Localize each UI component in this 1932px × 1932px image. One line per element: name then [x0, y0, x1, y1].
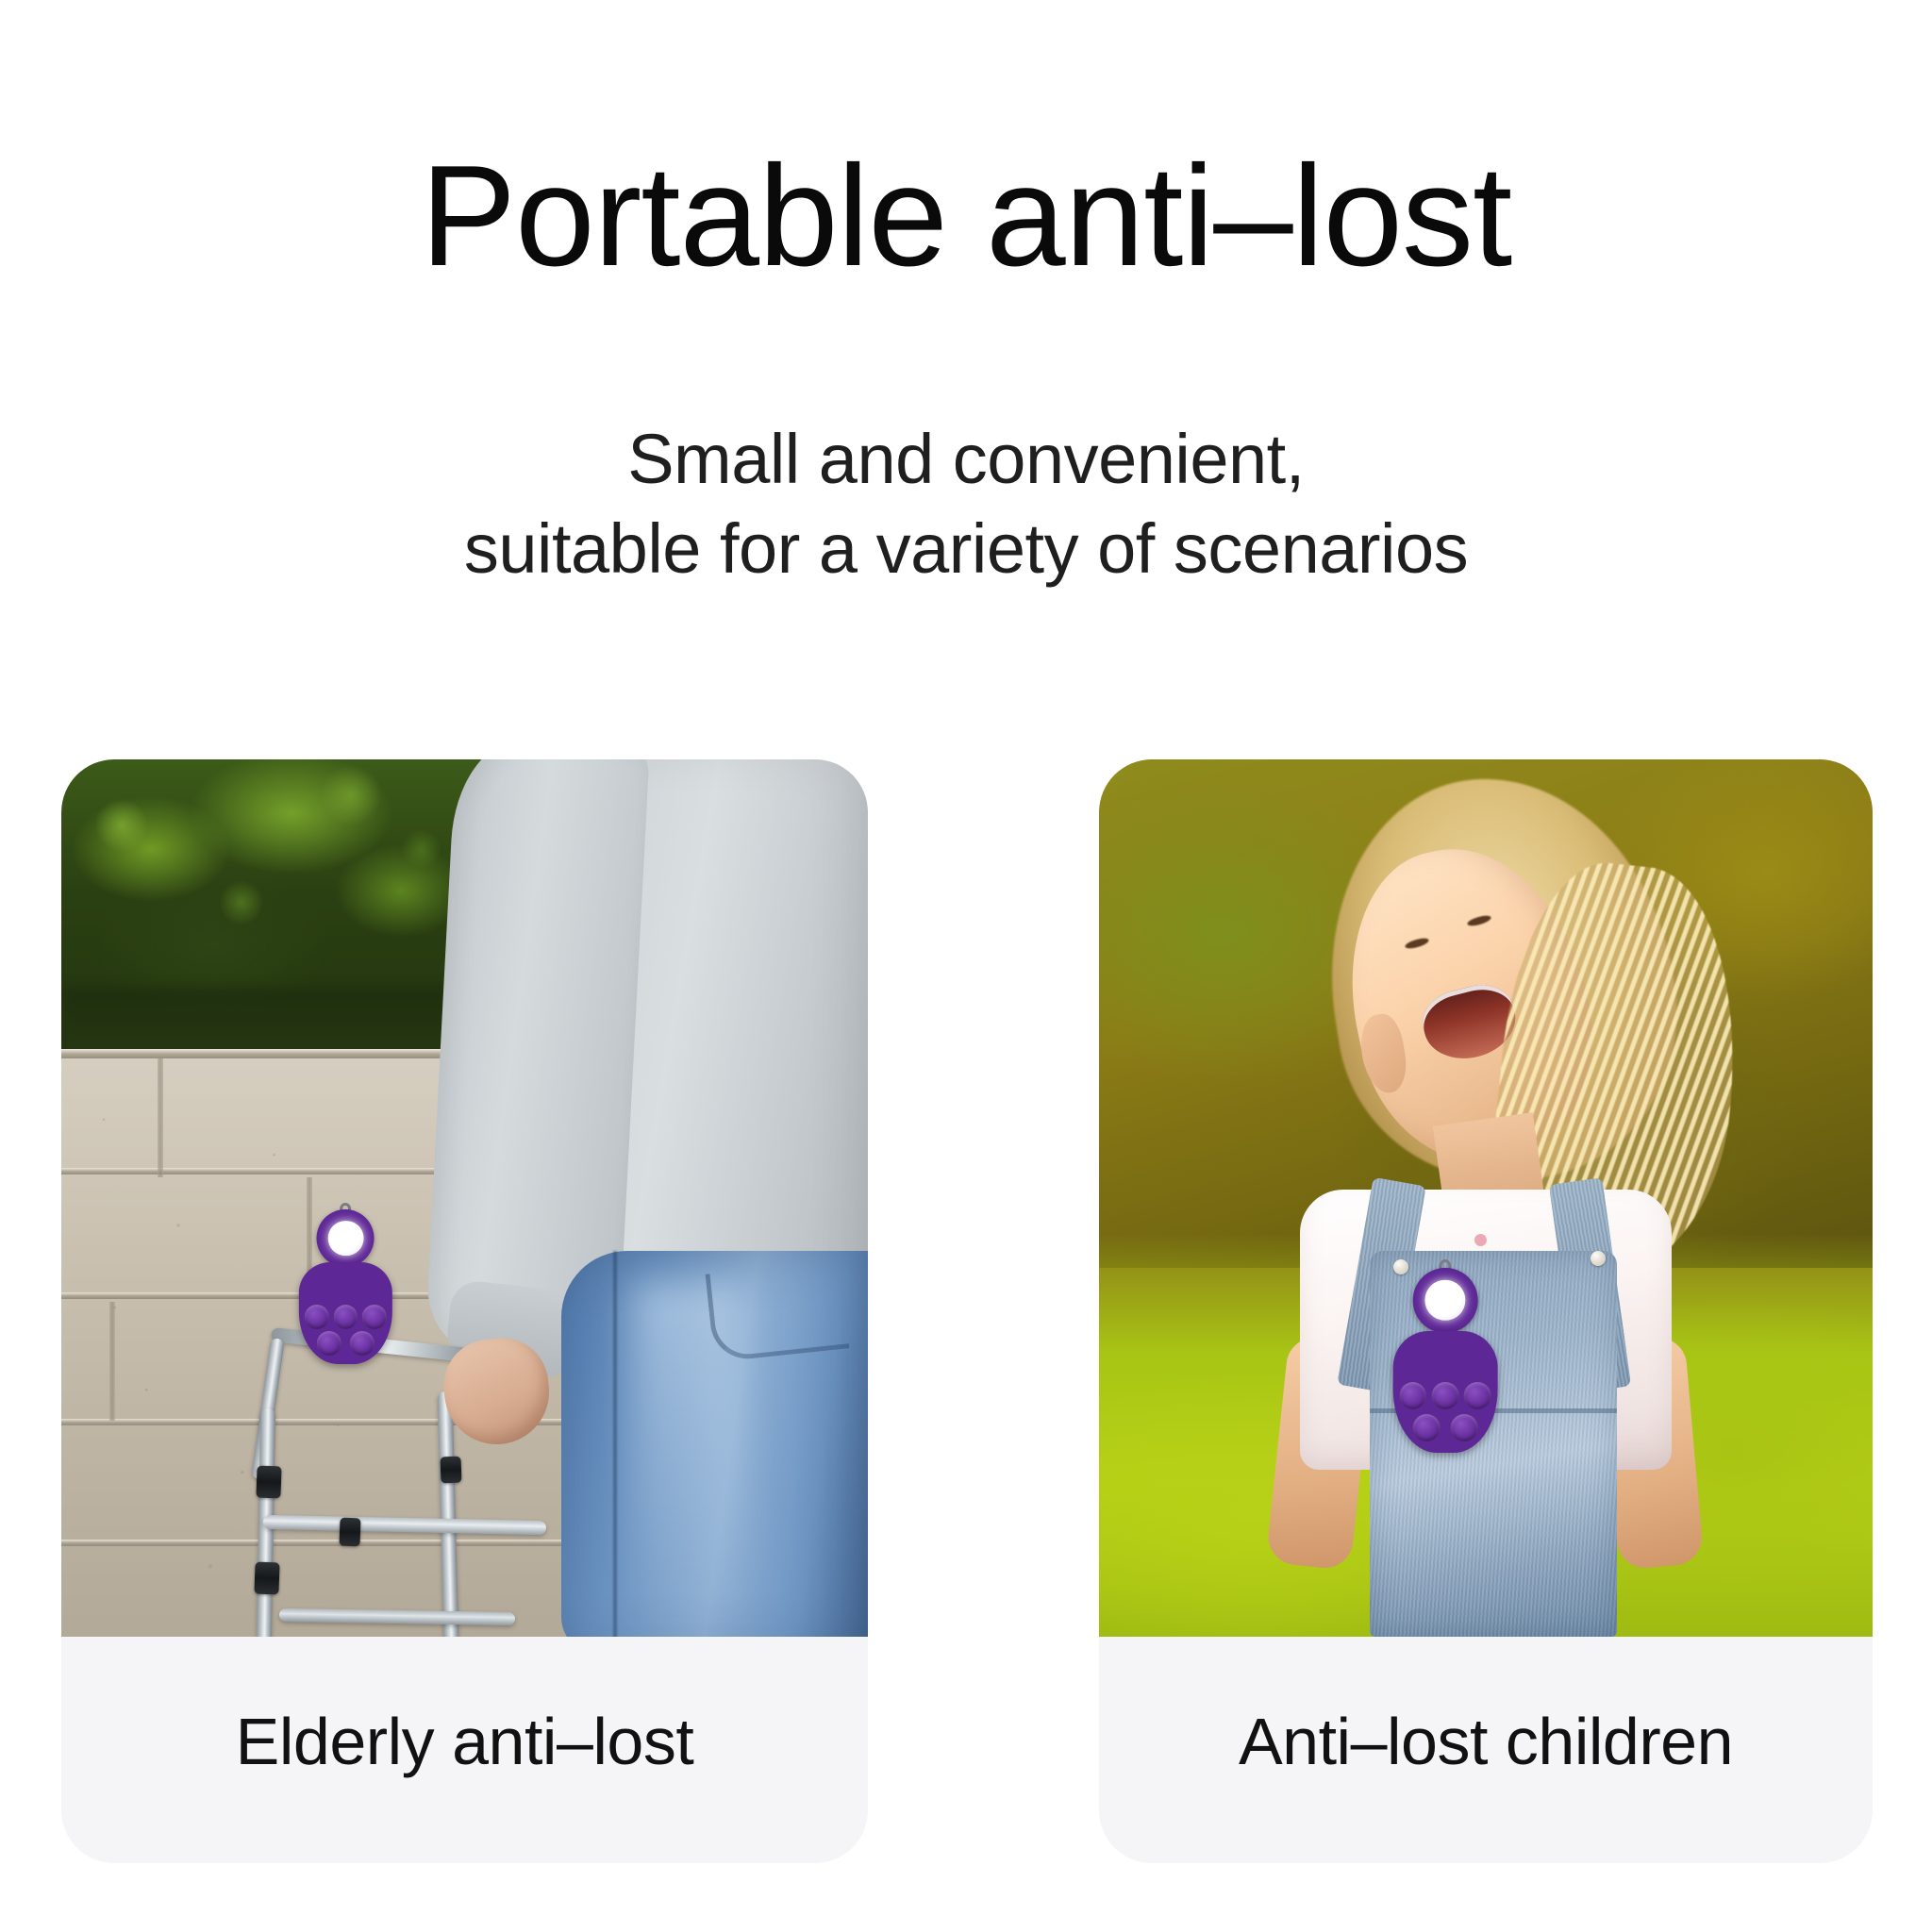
scene-elderly	[61, 759, 868, 1637]
subtitle-line-1: Small and convenient,	[0, 415, 1932, 505]
walker-clamp	[339, 1518, 360, 1547]
scenario-card-grid: Elderly anti–lost	[0, 759, 1932, 1891]
denim-pocket	[706, 1260, 850, 1363]
popit-keychain-icon	[1393, 1259, 1498, 1470]
scenario-card-elderly[interactable]: Elderly anti–lost	[61, 759, 868, 1863]
caption-label-children: Anti–lost children	[1239, 1704, 1733, 1779]
scenario-card-children[interactable]: Anti–lost children	[1099, 759, 1873, 1863]
keychain-head-light	[327, 1221, 363, 1257]
keychain-head-light	[1425, 1280, 1466, 1321]
scene-child	[1099, 759, 1873, 1637]
keychain-body	[1393, 1331, 1498, 1453]
popit-bubble	[1464, 1382, 1491, 1409]
popit-bubble	[1399, 1382, 1426, 1409]
photo-elderly-anti-lost	[61, 759, 868, 1637]
walker-clamp	[255, 1561, 280, 1594]
popit-bubble	[305, 1305, 329, 1329]
caption-bar-elderly: Elderly anti–lost	[61, 1637, 868, 1863]
keychain-head	[1413, 1268, 1478, 1333]
header-section: Portable anti–lost Small and convenient,…	[0, 0, 1932, 660]
blue-jeans	[561, 1251, 868, 1637]
page-subtitle: Small and convenient, suitable for a var…	[0, 415, 1932, 593]
stone-seam	[109, 1302, 115, 1421]
walker-clamp	[256, 1465, 281, 1498]
popit-bubble	[317, 1331, 341, 1356]
popit-bubble	[1432, 1382, 1459, 1409]
subtitle-line-2: suitable for a variety of scenarios	[0, 505, 1932, 594]
denim-seam	[613, 1251, 617, 1637]
shirt-button	[1474, 1234, 1487, 1246]
page-title: Portable anti–lost	[0, 142, 1932, 292]
popit-bubble	[334, 1305, 358, 1329]
popit-bubble	[1450, 1414, 1477, 1441]
mortar-line	[61, 1540, 593, 1546]
popit-bubble	[350, 1331, 375, 1356]
caption-label-elderly: Elderly anti–lost	[236, 1704, 694, 1779]
keychain-head	[317, 1209, 375, 1267]
popit-bubble	[362, 1305, 387, 1329]
photo-anti-lost-children	[1099, 759, 1873, 1637]
overall-buckle	[1591, 1251, 1606, 1266]
caption-bar-children: Anti–lost children	[1099, 1637, 1873, 1863]
walker-clamp	[440, 1457, 461, 1484]
popit-bubble	[1413, 1414, 1441, 1441]
keychain-body	[299, 1262, 391, 1364]
stone-seam	[158, 1058, 163, 1177]
popit-keychain-icon	[299, 1203, 391, 1378]
